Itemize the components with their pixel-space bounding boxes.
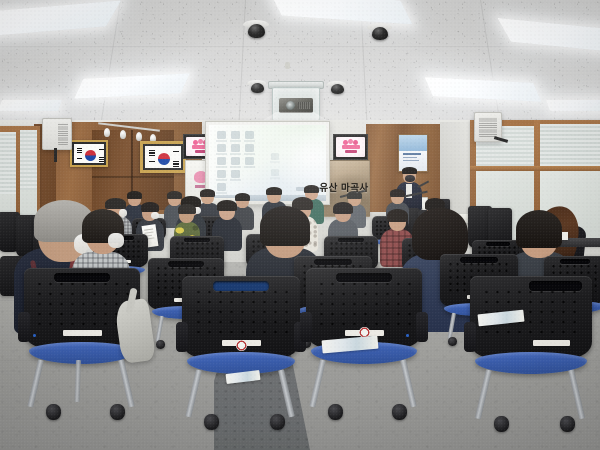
desktop-icon bbox=[231, 144, 240, 152]
chair-sticker bbox=[236, 340, 247, 351]
taeguk-circle-icon bbox=[83, 148, 98, 163]
korean-flag-frame bbox=[70, 140, 108, 167]
heritage-banner-text: 유산 마곡사 bbox=[319, 180, 369, 194]
desktop-icon bbox=[245, 131, 254, 139]
track-light-icon bbox=[104, 128, 110, 137]
chair-armrest bbox=[176, 322, 188, 352]
korean-flag-field bbox=[145, 146, 181, 168]
window-transom bbox=[470, 166, 600, 171]
desktop-icon bbox=[217, 183, 226, 191]
chair-armrest bbox=[300, 312, 312, 342]
chair-armrest bbox=[464, 322, 476, 352]
city-emblem-logo bbox=[336, 137, 365, 157]
attendee-hair bbox=[260, 206, 310, 246]
projector-vent bbox=[298, 102, 310, 109]
desktop-icon bbox=[231, 170, 240, 178]
chair-caster bbox=[328, 404, 343, 420]
chair-caster bbox=[494, 416, 509, 432]
seminar-room-photo: 유산 마곡사 bbox=[0, 0, 600, 450]
korean-flag-frame bbox=[140, 141, 186, 173]
roller-blind bbox=[0, 132, 16, 194]
stacking-chair[interactable] bbox=[182, 276, 300, 426]
chair-caster bbox=[204, 414, 219, 430]
ceiling-light-panel bbox=[546, 100, 600, 111]
desktop-icon bbox=[217, 157, 226, 165]
chair-armrest bbox=[416, 312, 428, 342]
chair-caster bbox=[270, 414, 285, 430]
chair-caster bbox=[392, 404, 407, 420]
desktop-icon bbox=[231, 157, 240, 165]
desktop-icon bbox=[231, 131, 240, 139]
chair-caster bbox=[110, 404, 125, 420]
taeguk-circle-icon bbox=[156, 151, 172, 167]
roller-blind bbox=[20, 130, 37, 190]
projector-lens-icon bbox=[286, 101, 295, 110]
face-mask bbox=[151, 212, 159, 219]
dome-camera-icon bbox=[372, 27, 388, 40]
face-mask bbox=[405, 175, 415, 182]
korean-flag-field bbox=[74, 144, 104, 163]
inventory-label bbox=[63, 330, 101, 336]
sprinkler-head-icon bbox=[285, 62, 290, 69]
face-mask bbox=[108, 233, 124, 248]
dome-camera-icon bbox=[331, 84, 344, 94]
dome-camera-icon bbox=[248, 24, 265, 38]
chair-caster bbox=[46, 404, 61, 420]
city-emblem-sign-right bbox=[333, 134, 368, 160]
chair-caster bbox=[560, 416, 575, 432]
inventory-label bbox=[533, 340, 570, 346]
speaker-grille bbox=[479, 117, 497, 137]
speaker-grille bbox=[58, 123, 68, 145]
chair-armrest bbox=[18, 312, 30, 342]
framed-poster bbox=[398, 134, 428, 172]
desktop-icon bbox=[245, 144, 254, 152]
attendee-hair bbox=[412, 208, 468, 260]
wall-speaker-left bbox=[42, 118, 72, 150]
speaker-mount-arm bbox=[54, 148, 57, 162]
attendee-hair bbox=[516, 210, 562, 248]
desktop-icon bbox=[245, 157, 254, 165]
ceiling-light-panel bbox=[0, 100, 62, 111]
wood-panel-seam bbox=[92, 176, 174, 178]
stacking-chair[interactable] bbox=[470, 276, 592, 428]
track-light-icon bbox=[136, 132, 142, 141]
desktop-icon bbox=[217, 131, 226, 139]
dome-camera-icon bbox=[251, 83, 264, 93]
desktop-icon bbox=[217, 170, 226, 178]
presenter-hair bbox=[402, 167, 417, 174]
desktop-icon bbox=[217, 144, 226, 152]
roller-blind bbox=[540, 124, 600, 168]
track-light-icon bbox=[120, 130, 126, 139]
